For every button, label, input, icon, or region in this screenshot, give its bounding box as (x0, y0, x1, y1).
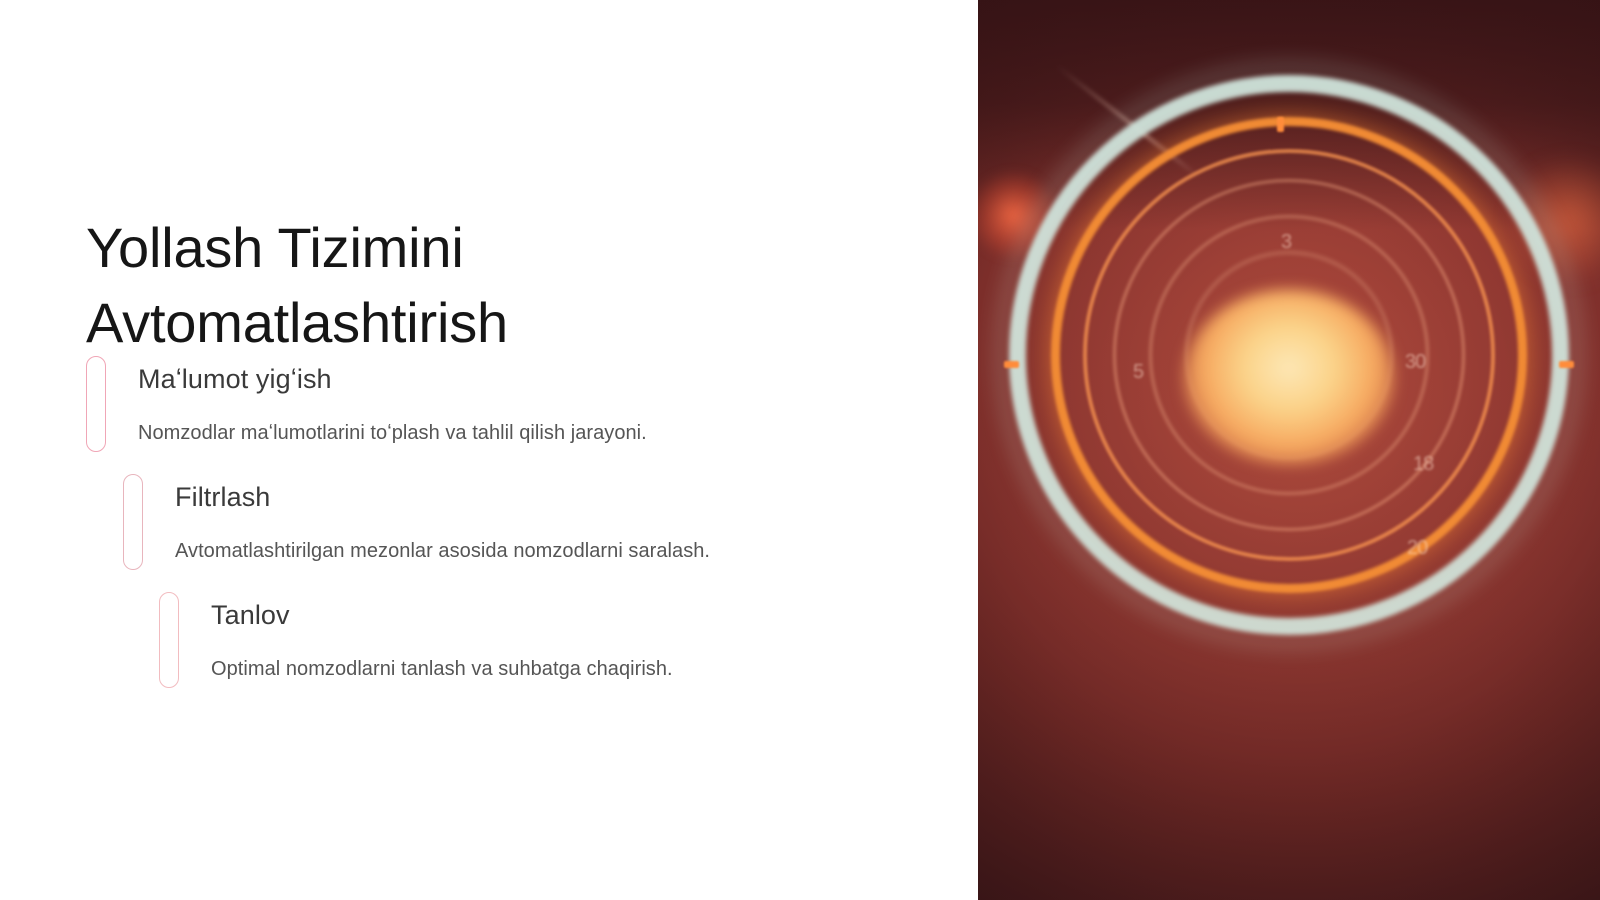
step-marker-bar (159, 592, 179, 688)
step-heading: Filtrlash (175, 466, 978, 511)
step-description: Avtomatlashtirilgan mezonlar asosida nom… (175, 511, 978, 561)
step-heading: Maʻlumot yigʻish (138, 348, 978, 393)
content-column: Yollash Tizimini Avtomatlashtirish Maʻlu… (0, 0, 978, 900)
step-body: Maʻlumot yigʻish Nomzodlar maʻlumotlarin… (86, 348, 978, 443)
step-marker-bar (86, 356, 106, 452)
step-body: Tanlov Optimal nomzodlarni tanlash va su… (159, 584, 978, 679)
hero-image: 3 30 18 20 5 (978, 0, 1600, 900)
list-item: Filtrlash Avtomatlashtirilgan mezonlar a… (0, 466, 978, 584)
step-body: Filtrlash Avtomatlashtirilgan mezonlar a… (123, 466, 978, 561)
page-title: Yollash Tizimini Avtomatlashtirish (86, 210, 686, 361)
step-description: Optimal nomzodlarni tanlash va suhbatga … (211, 629, 978, 679)
list-item: Tanlov Optimal nomzodlarni tanlash va su… (0, 584, 978, 702)
step-marker-bar (123, 474, 143, 570)
slide: Yollash Tizimini Avtomatlashtirish Maʻlu… (0, 0, 1600, 900)
step-description: Nomzodlar maʻlumotlarini toʻplash va tah… (138, 393, 978, 443)
robotic-hand (978, 0, 1600, 900)
list-item: Maʻlumot yigʻish Nomzodlar maʻlumotlarin… (0, 348, 978, 466)
steps-list: Maʻlumot yigʻish Nomzodlar maʻlumotlarin… (0, 348, 978, 702)
step-heading: Tanlov (211, 584, 978, 629)
